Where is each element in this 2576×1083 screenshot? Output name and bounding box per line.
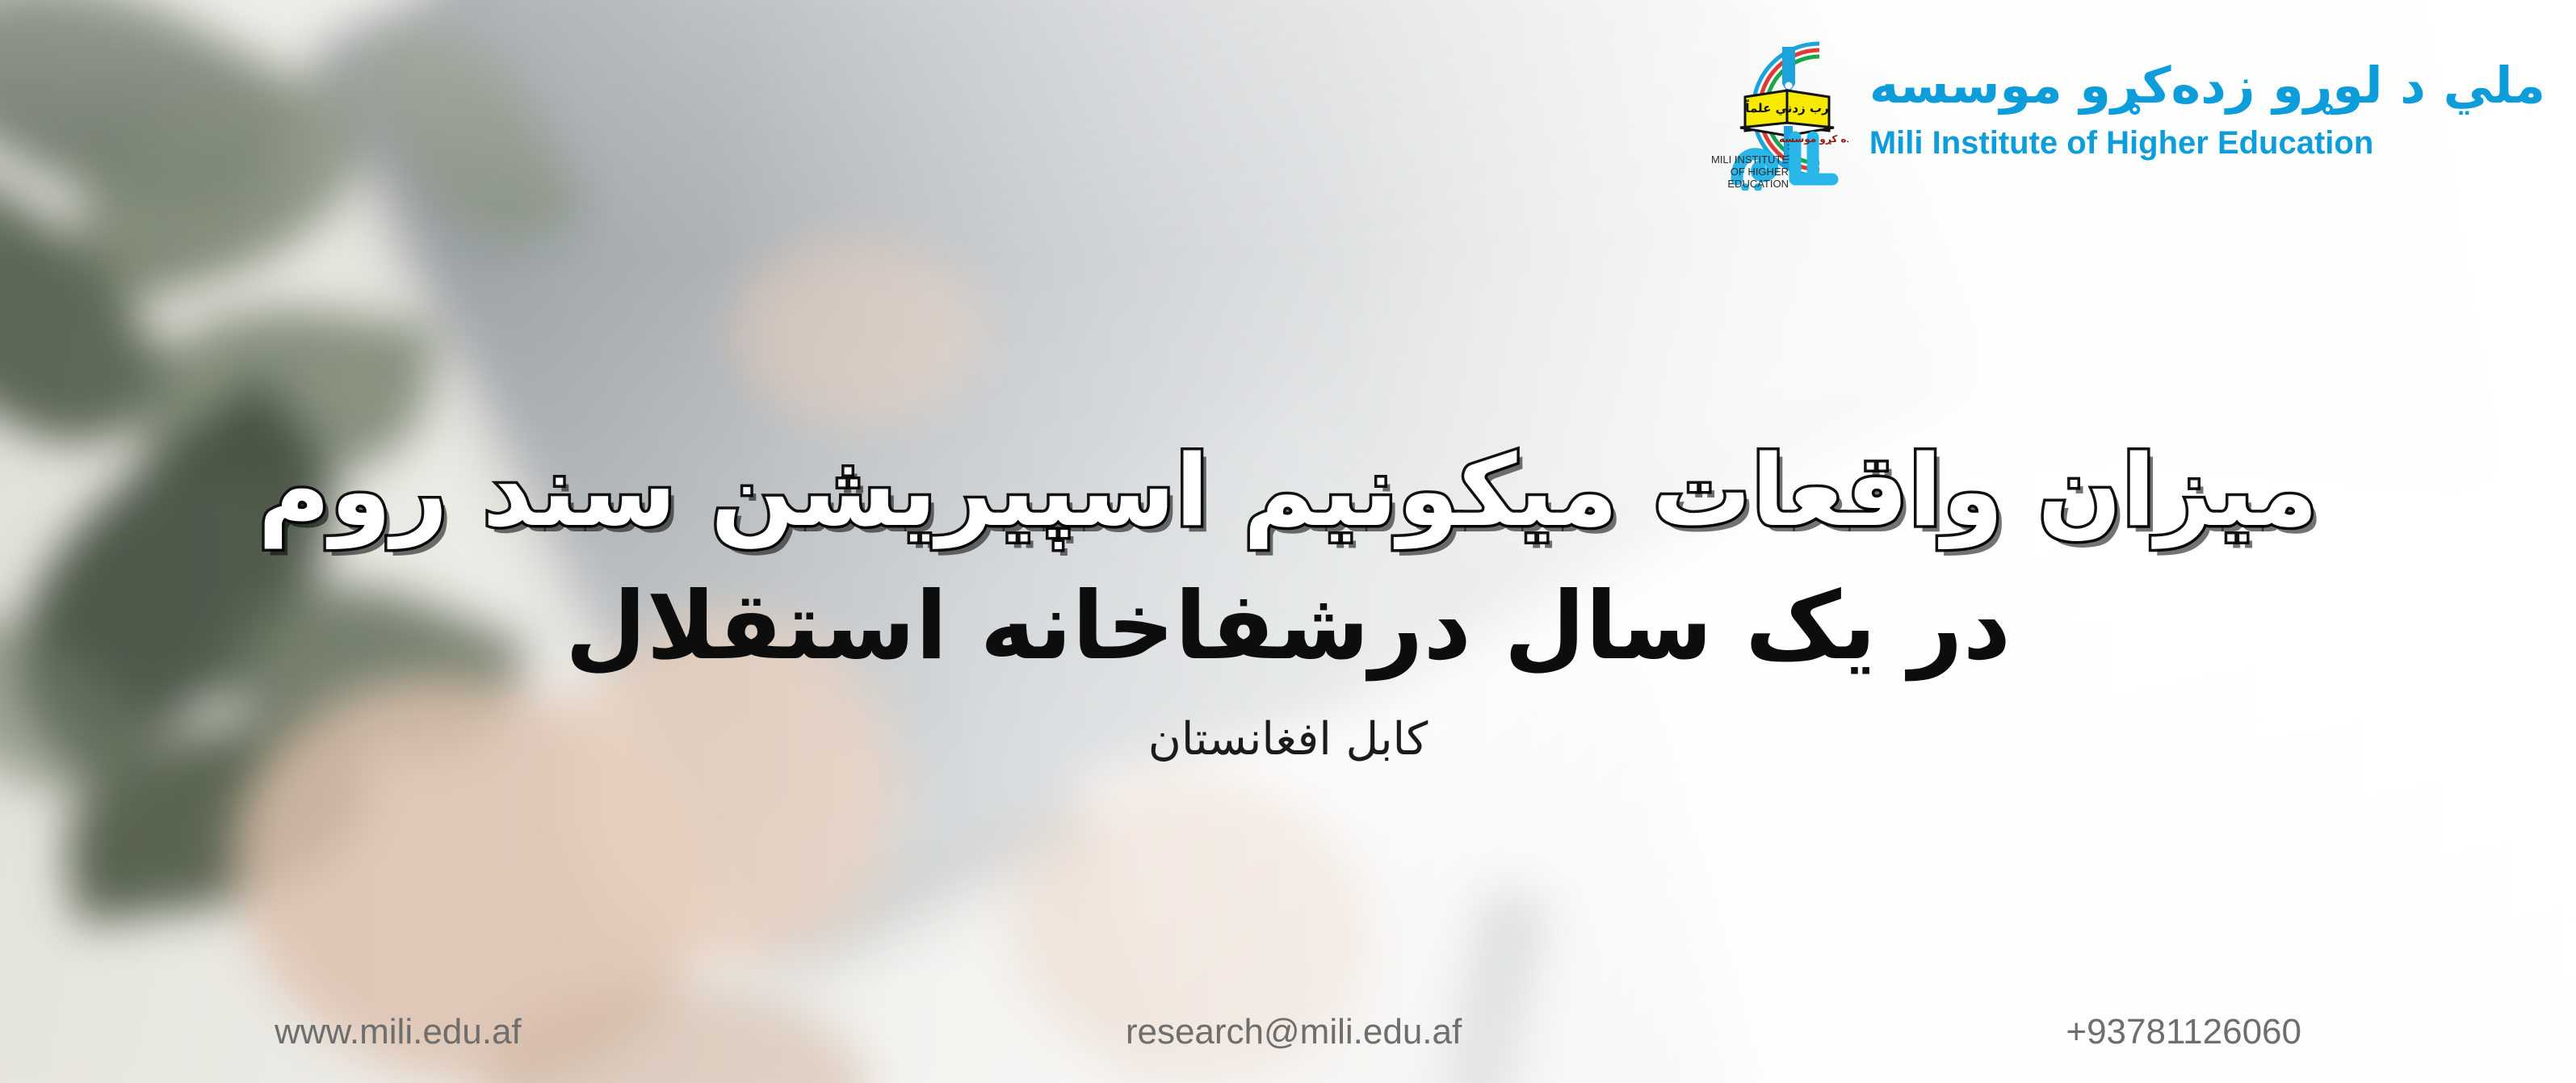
title-block: میزان واقعات میکونیم اسپیریشن سند روم در… — [0, 436, 2576, 766]
institute-name-block: ملي د لوړو زده‌کړو موسسه Mili Institute … — [1869, 61, 2545, 159]
title-line-two: در یک سال درشفاخانه استقلال — [0, 574, 2576, 679]
banner-header: ملي د لوړو زده‌کړو موسسه Mili Institute … — [1698, 29, 2545, 191]
research-banner: ملي د لوړو زده‌کړو موسسه Mili Institute … — [0, 0, 2576, 1083]
title-line-one: میزان واقعات میکونیم اسپیریشن سند روم — [0, 436, 2576, 547]
title-subtitle-location: کابل افغانستان — [0, 713, 2576, 766]
institute-name-pashto: ملي د لوړو زده‌کړو موسسه — [1869, 61, 2545, 111]
logo-english-line-3: EDUCATION — [1727, 178, 1789, 190]
logo-english-line-1: MILI INSTITUTE — [1711, 153, 1789, 166]
logo-pashto-name: د لوړوزده کړو موسسه — [1779, 133, 1848, 145]
mili-institute-logo-icon: رب زدني علماً ١٣٩١ د لوړوزده کړو موسسه M… — [1698, 29, 1848, 191]
logo-book-motto: رب زدني علماً — [1745, 99, 1829, 115]
footer-phone[interactable]: +93781126060 — [2066, 1012, 2301, 1052]
institute-name-english: Mili Institute of Higher Education — [1869, 127, 2373, 159]
footer-contact-bar: www.mili.edu.af research@mili.edu.af +93… — [0, 1012, 2576, 1052]
logo-english-line-2: OF HIGHER — [1731, 166, 1789, 178]
footer-website[interactable]: www.mili.edu.af — [275, 1012, 522, 1052]
footer-email[interactable]: research@mili.edu.af — [522, 1012, 2066, 1052]
